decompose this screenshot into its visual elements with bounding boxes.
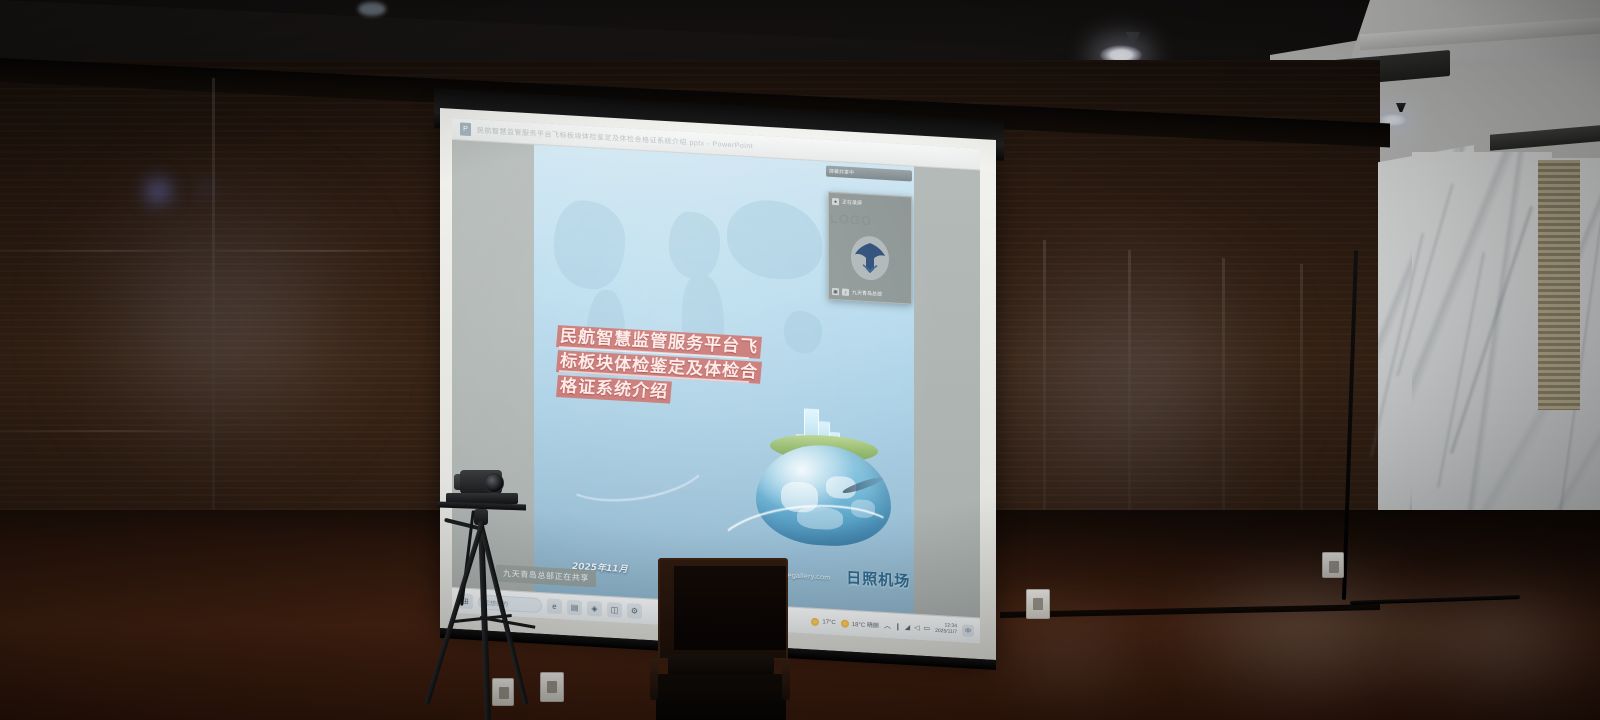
sun-icon [811, 617, 819, 625]
wall-louver-panel [1538, 160, 1580, 410]
participant-label: 九天青岛总部 [852, 289, 882, 298]
chair-backrest [658, 558, 788, 660]
meeting-panel-title: 屏幕共享中 [829, 168, 854, 176]
weather-outdoor-temp: 18°C 晴朗 [852, 619, 879, 630]
explorer-icon[interactable]: ▤ [567, 600, 582, 616]
taskbar-clock[interactable]: 12:34 2025/11/7 [935, 623, 957, 636]
network-icon[interactable]: ◢ [905, 623, 910, 631]
microphone-icon[interactable]: ❙ [895, 622, 901, 630]
chair-seat [656, 674, 786, 720]
lens-flare [140, 176, 176, 206]
teams-icon[interactable]: ◈ [587, 601, 602, 617]
settings-icon[interactable]: ⚙ [627, 603, 642, 619]
wall-panel-seam [215, 250, 435, 252]
weather-indoor[interactable]: 17°C [811, 617, 835, 626]
microphone-icon: ♪ [842, 288, 849, 295]
ceiling-specular-highlight [358, 2, 386, 16]
letterbox-right [914, 167, 980, 618]
eagle-emblem-icon [850, 234, 890, 282]
lens-flare [198, 182, 214, 194]
wall-outlet[interactable] [1322, 552, 1344, 578]
chair-armrest [782, 658, 790, 700]
clock-date: 2025/11/7 [935, 628, 957, 635]
conference-room-photo: P 民航智慧监管服务平台飞标板块体检鉴定及体检合格证系统介绍.pptx - Po… [0, 0, 1600, 720]
battery-icon[interactable]: ▭ [924, 624, 931, 632]
recording-label: 正在录屏 [842, 198, 862, 206]
tripod-leg [425, 521, 485, 704]
wall-panel-seam [0, 250, 215, 252]
camera-lens-icon [484, 473, 504, 493]
chevron-up-icon[interactable]: ︿ [884, 620, 891, 630]
camera-tripod-rig [424, 470, 564, 720]
video-icon: ▣ [832, 288, 839, 295]
system-tray[interactable]: ︿ ❙ ◢ ◁ ▭ [884, 620, 930, 633]
weather-outdoor[interactable]: 18°C 晴朗 [841, 618, 879, 629]
wall-ambient-glow [60, 180, 380, 460]
meeting-floating-panel[interactable]: ● 正在录屏 ▣ ♪ [828, 192, 912, 305]
wall-outlet[interactable] [1026, 589, 1050, 619]
powerpoint-icon: P [460, 122, 471, 136]
venue-overlay-text: 日照机场 [846, 566, 910, 591]
meeting-panel-titlebar[interactable]: 屏幕共享中 [826, 166, 912, 182]
store-icon[interactable]: ◫ [607, 602, 622, 618]
record-icon: ● [832, 198, 839, 205]
slide-title-line: 格证系统介绍 [556, 375, 672, 404]
volume-icon[interactable]: ◁ [914, 623, 919, 631]
ime-icon[interactable]: 中 [962, 624, 974, 637]
weather-indoor-temp: 17°C [822, 619, 835, 626]
sun-icon [841, 619, 849, 627]
presentation-slide: LOGO 民航智慧监管服务平台飞 标板块体检鉴定及体检合 格证系统介绍 [534, 145, 914, 614]
wall-panel-seam [0, 430, 215, 432]
chair-cushion [668, 654, 774, 676]
slide-title: 民航智慧监管服务平台飞 标板块体检鉴定及体检合 格证系统介绍 [557, 325, 831, 416]
chair-armrest [650, 658, 658, 700]
conference-chair[interactable] [650, 558, 790, 720]
